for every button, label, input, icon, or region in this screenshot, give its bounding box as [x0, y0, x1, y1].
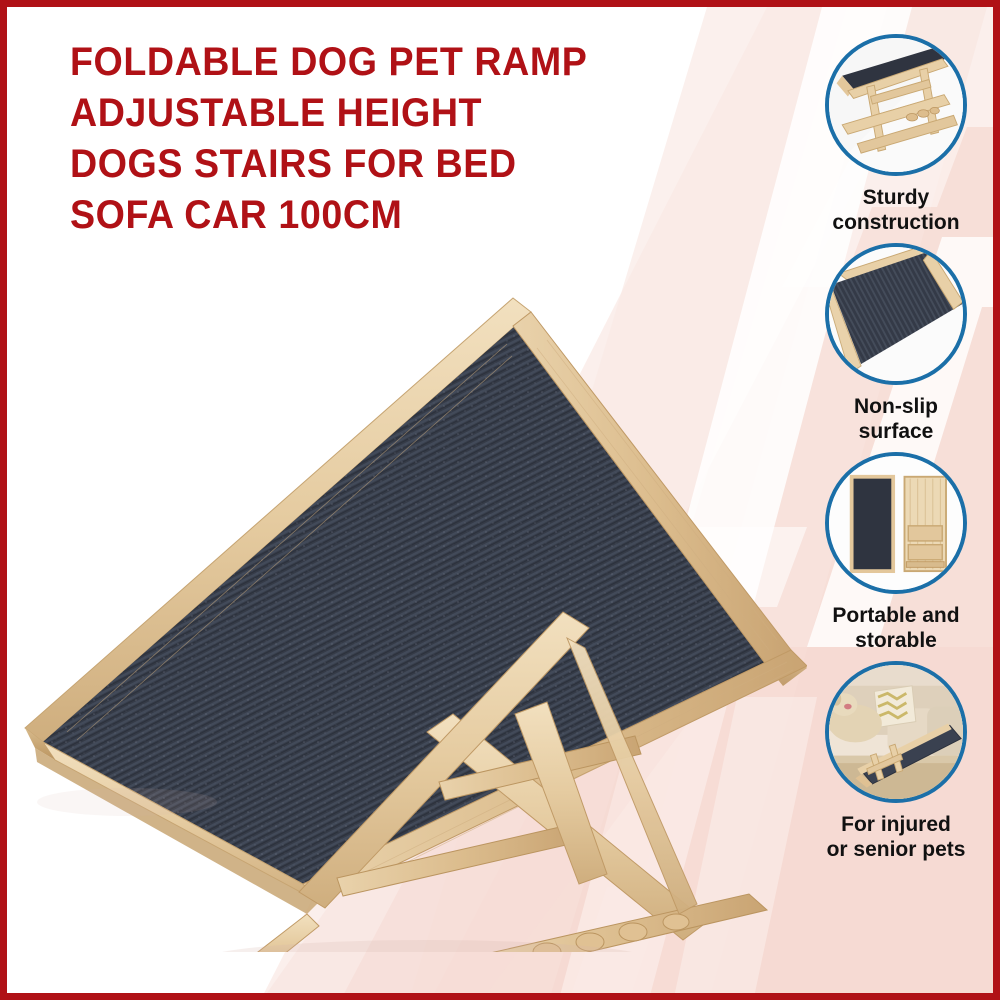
ramp-frame-underside-icon [825, 34, 967, 176]
feature-non-slip-surface: Non-slip surface [806, 243, 986, 444]
folded-ramp-panels-icon [825, 452, 967, 594]
feature-label-non-slip-surface: Non-slip surface [808, 394, 984, 444]
product-image [7, 262, 807, 952]
nonslip-carpet-icon [825, 243, 967, 385]
feature-list: Sturdy construction [806, 14, 986, 1000]
product-listing-image: FOLDABLE DOG PET RAMP ADJUSTABLE HEIGHT … [0, 0, 1000, 1000]
dog-sofa-ramp-icon [825, 661, 967, 803]
feature-injured-senior-pets: For injured or senior pets [806, 661, 986, 862]
feature-portable-storable: Portable and storable [806, 452, 986, 653]
title-line-2: ADJUSTABLE HEIGHT [70, 88, 690, 139]
title-line-3: DOGS STAIRS FOR BED [70, 139, 690, 190]
title-line-1: FOLDABLE DOG PET RAMP [70, 37, 690, 88]
feature-label-portable-storable: Portable and storable [808, 603, 984, 653]
title-line-4: SOFA CAR 100CM [70, 190, 690, 241]
feature-label-injured-senior-pets: For injured or senior pets [808, 812, 984, 862]
feature-label-sturdy-construction: Sturdy construction [808, 185, 984, 235]
feature-sturdy-construction: Sturdy construction [806, 34, 986, 235]
product-title: FOLDABLE DOG PET RAMP ADJUSTABLE HEIGHT … [70, 37, 730, 241]
